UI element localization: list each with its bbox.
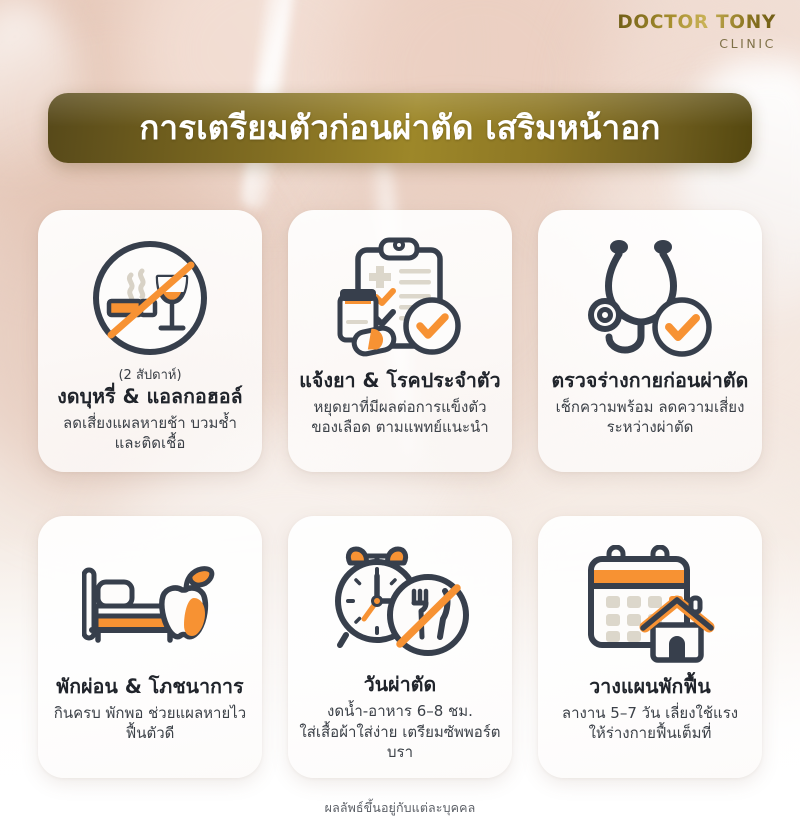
card-description-line: งดน้ำ-อาหาร 6–8 ชม. <box>298 701 502 721</box>
card-title: ตรวจร่างกายก่อนผ่าตัด <box>548 369 752 393</box>
preparation-card-grid: (2 สัปดาห์) งดบุหรี่ & แอลกอฮอล์ ลดเสี่ย… <box>38 210 762 778</box>
disclaimer-text: ผลลัพธ์ขึ้นอยู่กับแต่ละบุคคล <box>0 798 800 818</box>
no-smoking-no-alcohol-icon <box>48 232 252 364</box>
card-title: แจ้งยา & โรคประจำตัว <box>298 369 502 393</box>
card-description: ลดเสี่ยงแผลหายช้า บวมช้ำ และติดเชื้อ <box>48 413 252 454</box>
card-description: ลางาน 5–7 วัน เลี่ยงใช้แรง ให้ร่างกายฟื้… <box>548 703 752 744</box>
card-description-line: เช็กความพร้อม ลดความเสี่ยง <box>548 397 752 417</box>
alarm-clock-no-food-icon <box>298 538 502 668</box>
card-title: วางแผนพักฟื้น <box>548 675 752 699</box>
calendar-house-icon <box>548 538 752 670</box>
card-text-block: แจ้งยา & โรคประจำตัว หยุดยาที่มีผลต่อการ… <box>298 368 502 438</box>
card-text-block: วางแผนพักฟื้น ลางาน 5–7 วัน เลี่ยงใช้แรง… <box>548 674 752 744</box>
card-description-line: ฟื้นตัวดี <box>48 723 252 743</box>
stethoscope-check-icon <box>548 232 752 364</box>
card-text-block: พักผ่อน & โภชนาการ กินครบ พักพอ ช่วยแผลห… <box>48 674 252 744</box>
clipboard-medication-checklist-icon <box>298 232 502 364</box>
card-description-line: ของเลือด ตามแพทย์แนะนำ <box>298 417 502 437</box>
bed-apple-icon <box>48 538 252 670</box>
card-description-line: ใส่เสื้อผ้าใส่ง่าย เตรียมซัพพอร์ตบรา <box>298 722 502 763</box>
card-title: งดบุหรี่ & แอลกอฮอล์ <box>48 385 252 409</box>
card-description: เช็กความพร้อม ลดความเสี่ยง ระหว่างผ่าตัด <box>548 397 752 438</box>
page-title: การเตรียมตัวก่อนผ่าตัด เสริมหน้าอก <box>139 110 660 146</box>
card-medication-disclosure[interactable]: แจ้งยา & โรคประจำตัว หยุดยาที่มีผลต่อการ… <box>288 210 512 472</box>
card-description-line: ลางาน 5–7 วัน เลี่ยงใช้แรง <box>548 703 752 723</box>
card-description: งดน้ำ-อาหาร 6–8 ชม. ใส่เสื้อผ้าใส่ง่าย เ… <box>298 701 502 762</box>
card-description-line: ลดเสี่ยงแผลหายช้า บวมช้ำ <box>48 413 252 433</box>
brand-logo-name: DOCTOR TONY <box>617 14 776 33</box>
card-description-line: และติดเชื้อ <box>48 433 252 453</box>
card-surgery-day[interactable]: วันผ่าตัด งดน้ำ-อาหาร 6–8 ชม. ใส่เสื้อผ้… <box>288 516 512 778</box>
card-description: กินครบ พักพอ ช่วยแผลหายไว ฟื้นตัวดี <box>48 703 252 744</box>
card-rest-nutrition[interactable]: พักผ่อน & โภชนาการ กินครบ พักพอ ช่วยแผลห… <box>38 516 262 778</box>
brand-logo: DOCTOR TONY CLINIC <box>617 14 776 50</box>
card-description-line: กินครบ พักพอ ช่วยแผลหายไว <box>48 703 252 723</box>
card-description-line: หยุดยาที่มีผลต่อการแข็งตัว <box>298 397 502 417</box>
title-banner: การเตรียมตัวก่อนผ่าตัด เสริมหน้าอก <box>48 93 752 163</box>
card-note: (2 สัปดาห์) <box>48 368 252 384</box>
card-text-block: (2 สัปดาห์) งดบุหรี่ & แอลกอฮอล์ ลดเสี่ย… <box>48 368 252 453</box>
card-no-smoking-alcohol[interactable]: (2 สัปดาห์) งดบุหรี่ & แอลกอฮอล์ ลดเสี่ย… <box>38 210 262 472</box>
card-physical-exam[interactable]: ตรวจร่างกายก่อนผ่าตัด เช็กความพร้อม ลดคว… <box>538 210 762 472</box>
brand-logo-doctor: DOCTOR <box>617 12 708 33</box>
card-text-block: ตรวจร่างกายก่อนผ่าตัด เช็กความพร้อม ลดคว… <box>548 368 752 438</box>
card-recovery-planning[interactable]: วางแผนพักฟื้น ลางาน 5–7 วัน เลี่ยงใช้แรง… <box>538 516 762 778</box>
card-text-block: วันผ่าตัด งดน้ำ-อาหาร 6–8 ชม. ใส่เสื้อผ้… <box>298 672 502 762</box>
brand-logo-clinic: CLINIC <box>617 38 776 51</box>
card-title: วันผ่าตัด <box>298 673 502 697</box>
brand-logo-tony: TONY <box>716 12 776 33</box>
card-description-line: ให้ร่างกายฟื้นเต็มที่ <box>548 723 752 743</box>
card-title: พักผ่อน & โภชนาการ <box>48 675 252 699</box>
card-description-line: ระหว่างผ่าตัด <box>548 417 752 437</box>
card-description: หยุดยาที่มีผลต่อการแข็งตัว ของเลือด ตามแ… <box>298 397 502 438</box>
